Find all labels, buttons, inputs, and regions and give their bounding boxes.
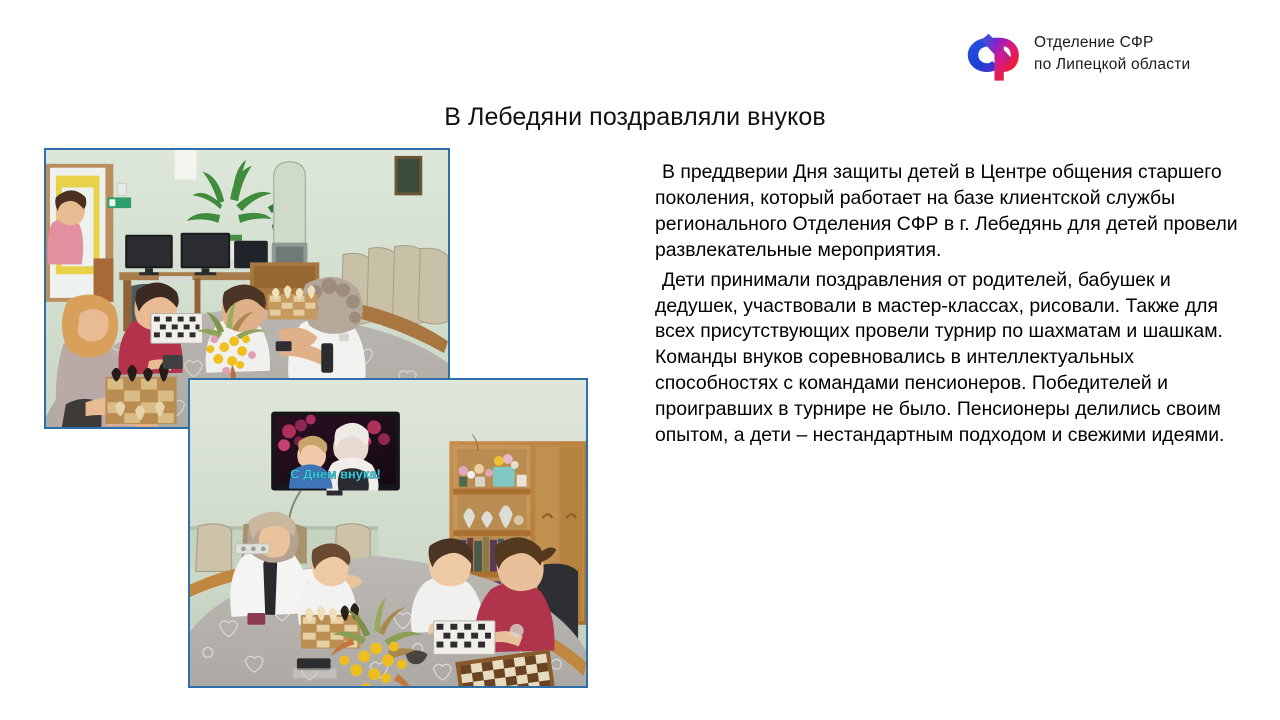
sfr-logo-icon [962, 26, 1020, 82]
paragraph-2: Дети принимали поздравления от родителей… [655, 268, 1243, 449]
presentation-slide: Отделение СФР по Липецкой области В Лебе… [0, 0, 1280, 720]
brand-header: Отделение СФР по Липецкой области [962, 26, 1190, 82]
article-body: В преддверии Дня защиты детей в Центре о… [655, 160, 1243, 453]
photo-children-with-pensioner: С Днем внука! [188, 378, 588, 688]
tv-caption: С Днем внука! [290, 467, 381, 482]
page-title: В Лебедяни поздравляли внуков [300, 103, 970, 132]
photo-two-artwork: С Днем внука! [190, 380, 586, 686]
paragraph-1: В преддверии Дня защиты детей в Центре о… [655, 160, 1243, 264]
organization-name: Отделение СФР по Липецкой области [1034, 32, 1190, 76]
